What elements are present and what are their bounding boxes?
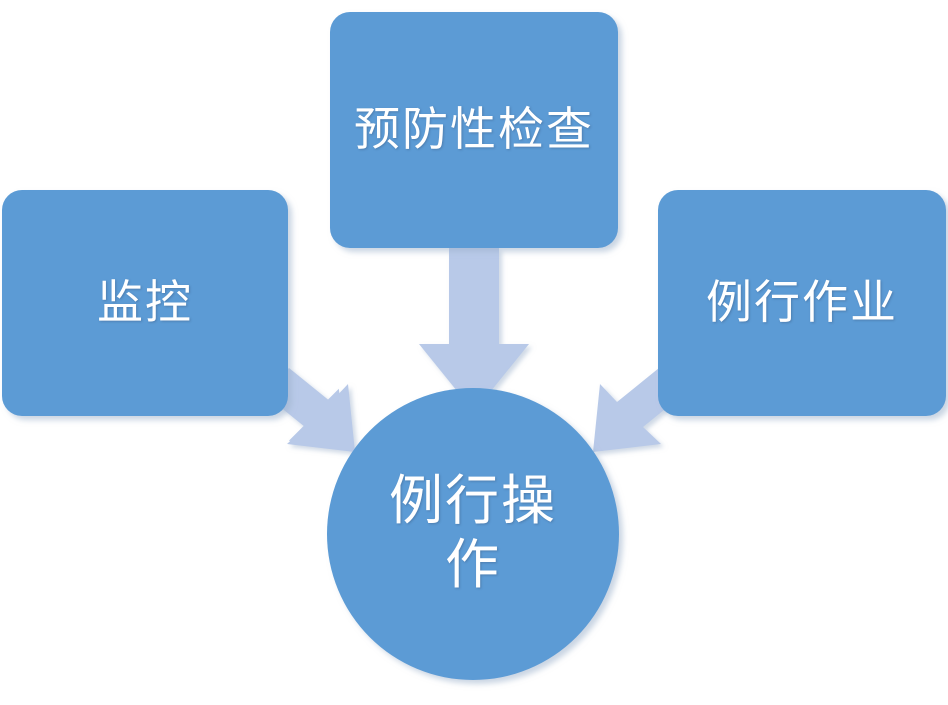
node-top-box[interactable] [330,12,618,248]
node-right-box[interactable] [658,190,946,416]
node-left-box[interactable] [2,190,288,416]
diagram-shapes-layer [0,0,948,705]
diagram-canvas: 预防性检查 监控 例行作业 例行操作 [0,0,948,705]
node-center-circle[interactable] [327,388,619,680]
arrow-top-to-center [419,248,529,412]
